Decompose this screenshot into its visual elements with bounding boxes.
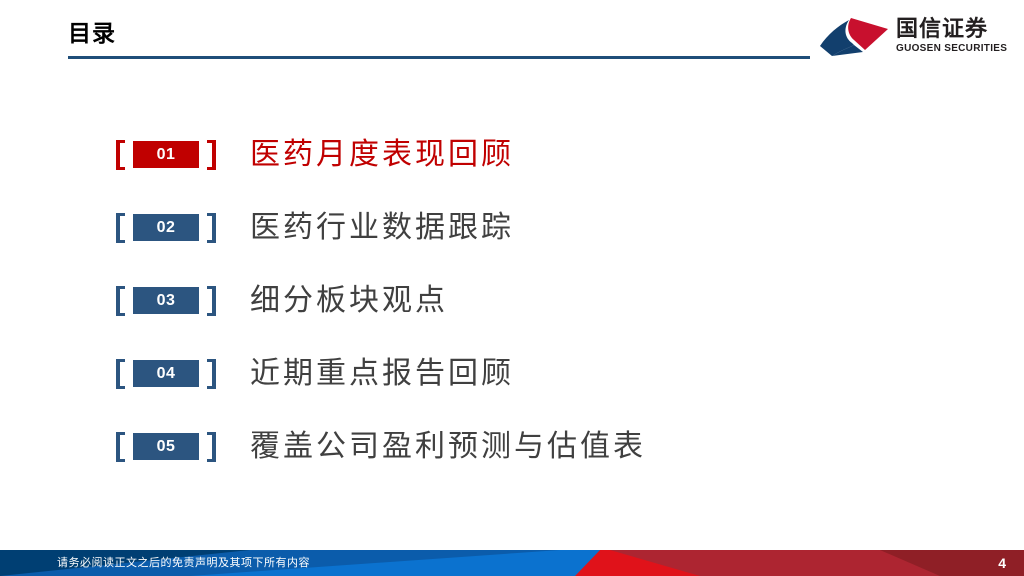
bracket-group-04: 04 (116, 357, 228, 391)
title-divider (68, 56, 810, 59)
bracket-left-icon (116, 140, 125, 170)
toc-label-05[interactable]: 覆盖公司盈利预测与估值表 (250, 432, 646, 462)
bracket-group-05: 05 (116, 430, 228, 464)
slide: 目录 国信证券 GUOSEN SECURITIES 01 医药月度表现 (0, 0, 1024, 576)
toc-label-04[interactable]: 近期重点报告回顾 (250, 359, 514, 389)
toc-number-badge-03: 03 (133, 287, 199, 314)
toc-label-03[interactable]: 细分板块观点 (250, 286, 448, 316)
page-title: 目录 (68, 22, 116, 45)
toc-number-badge-01: 01 (133, 141, 199, 168)
bracket-left-icon (116, 286, 125, 316)
toc-item-01[interactable]: 01 医药月度表现回顾 (0, 118, 1024, 191)
logo-text: 国信证券 GUOSEN SECURITIES (896, 16, 1008, 55)
toc-number-badge-05: 05 (133, 433, 199, 460)
toc-label-01[interactable]: 医药月度表现回顾 (250, 140, 514, 170)
bracket-right-icon (207, 213, 216, 243)
logo-name-en: GUOSEN SECURITIES (896, 42, 1008, 55)
toc-label-02[interactable]: 医药行业数据跟踪 (250, 213, 514, 243)
bracket-group-03: 03 (116, 284, 228, 318)
bracket-group-02: 02 (116, 211, 228, 245)
bracket-right-icon (207, 140, 216, 170)
logo-mark-icon (818, 16, 890, 62)
bracket-right-icon (207, 432, 216, 462)
footer-bar: 请务必阅读正文之后的免责声明及其项下所有内容 4 (0, 550, 1024, 576)
bracket-left-icon (116, 432, 125, 462)
toc-item-02[interactable]: 02 医药行业数据跟踪 (0, 191, 1024, 264)
toc-item-03[interactable]: 03 细分板块观点 (0, 264, 1024, 337)
page-number: 4 (998, 550, 1006, 576)
bracket-right-icon (207, 286, 216, 316)
toc-number-badge-02: 02 (133, 214, 199, 241)
toc-list: 01 医药月度表现回顾 02 医药行业数据跟踪 (0, 118, 1024, 483)
logo-name-cn: 国信证券 (896, 16, 1008, 42)
bracket-group-01: 01 (116, 138, 228, 172)
toc-item-05[interactable]: 05 覆盖公司盈利预测与估值表 (0, 410, 1024, 483)
toc-number-badge-04: 04 (133, 360, 199, 387)
bracket-left-icon (116, 359, 125, 389)
footer-disclaimer: 请务必阅读正文之后的免责声明及其项下所有内容 (57, 550, 310, 576)
company-logo: 国信证券 GUOSEN SECURITIES (818, 14, 1008, 66)
bracket-right-icon (207, 359, 216, 389)
toc-item-04[interactable]: 04 近期重点报告回顾 (0, 337, 1024, 410)
bracket-left-icon (116, 213, 125, 243)
